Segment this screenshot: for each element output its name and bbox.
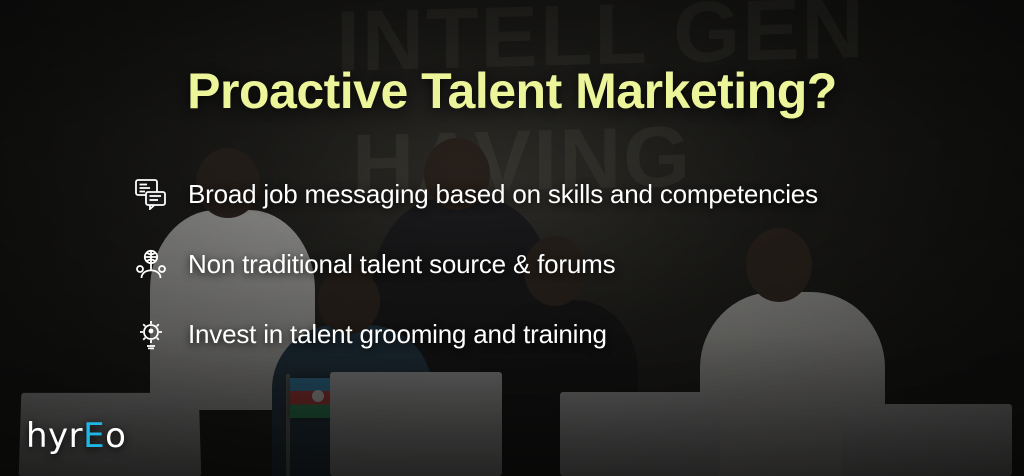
bullet-item-1: Broad job messaging based on skills and …: [128, 172, 948, 216]
network-people-icon: [128, 244, 174, 284]
logo-accent-letter: E: [83, 416, 105, 456]
slide-content: Proactive Talent Marketing? Broad: [0, 0, 1024, 476]
message-card-icon: [128, 174, 174, 214]
logo-part-1: hyr: [26, 416, 83, 456]
idea-growth-icon: [128, 314, 174, 354]
bullet-item-2: Non traditional talent source & forums: [128, 242, 948, 286]
slide-title: Proactive Talent Marketing?: [0, 62, 1024, 120]
bullet-text-2: Non traditional talent source & forums: [188, 249, 615, 280]
company-logo: hyrEo: [26, 416, 126, 456]
bullet-text-1: Broad job messaging based on skills and …: [188, 179, 818, 210]
bullet-item-3: Invest in talent grooming and training: [128, 312, 948, 356]
bullet-text-3: Invest in talent grooming and training: [188, 319, 607, 350]
logo-part-2: o: [105, 416, 126, 456]
bullet-list: Broad job messaging based on skills and …: [128, 172, 948, 382]
presentation-slide: INTELL GEN HAVING MEN Proactive Talent M…: [0, 0, 1024, 476]
